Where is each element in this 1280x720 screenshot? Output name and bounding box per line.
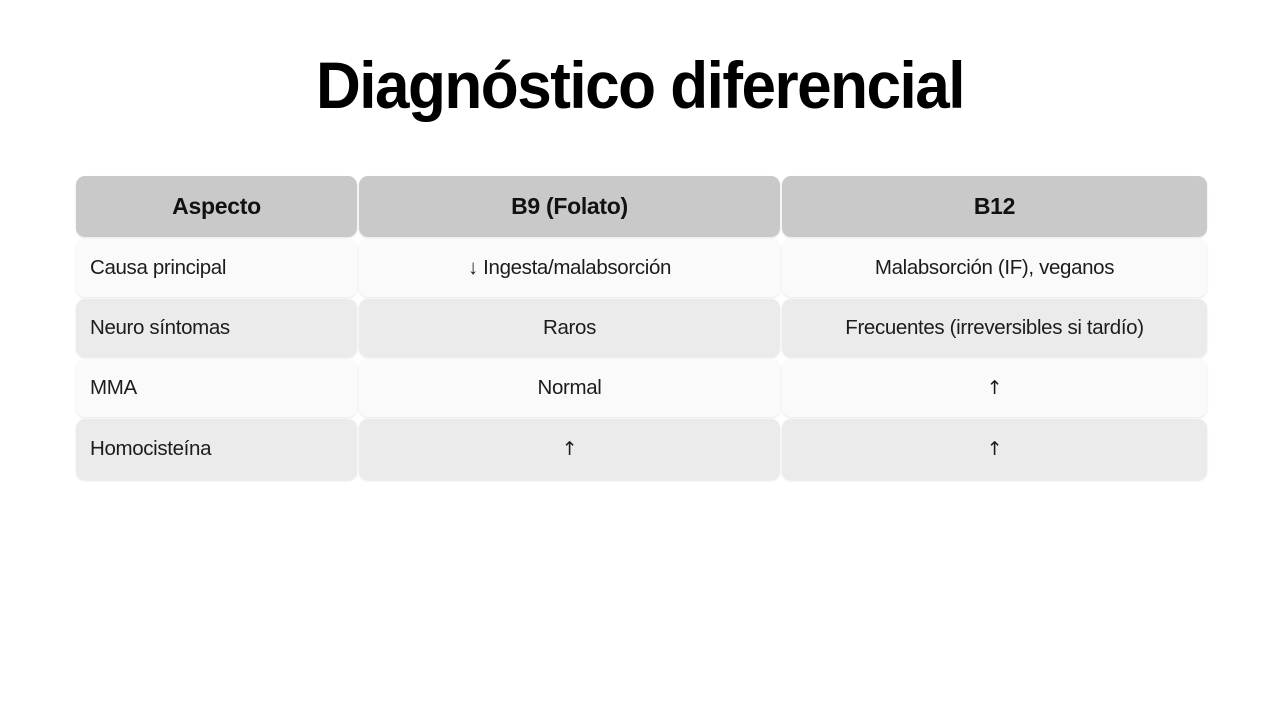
table-cell-b12-up-arrow-icon: ↑ — [782, 359, 1207, 417]
table-cell-b9: Normal — [359, 359, 780, 417]
table-cell-aspecto: Neuro síntomas — [76, 299, 357, 357]
table-cell-aspecto: MMA — [76, 359, 357, 417]
table-row: Neuro síntomas Raros Frecuentes (irrever… — [76, 299, 1205, 357]
page-title: Diagnóstico diferencial — [38, 52, 1241, 118]
table-row: MMA Normal ↑ — [76, 359, 1205, 417]
table-row: Causa principal ↓ Ingesta/malabsorción M… — [76, 239, 1205, 297]
table-header-cell-b9: B9 (Folato) — [359, 176, 780, 237]
table-header-cell-aspecto: Aspecto — [76, 176, 357, 237]
table-cell-b12: Frecuentes (irreversibles si tardío) — [782, 299, 1207, 357]
table-cell-b9: Raros — [359, 299, 780, 357]
slide-root: Diagnóstico diferencial Aspecto B9 (Fola… — [0, 0, 1280, 720]
comparison-table: Aspecto B9 (Folato) B12 Causa principal … — [76, 176, 1205, 480]
table-cell-b9: ↓ Ingesta/malabsorción — [359, 239, 780, 297]
table-cell-b12-up-arrow-icon: ↑ — [782, 419, 1207, 480]
table-header-cell-b12: B12 — [782, 176, 1207, 237]
table-cell-aspecto: Homocisteína — [76, 419, 357, 480]
table-row: Homocisteína ↑ ↑ — [76, 419, 1205, 480]
table-cell-b12: Malabsorción (IF), veganos — [782, 239, 1207, 297]
table-header-row: Aspecto B9 (Folato) B12 — [76, 176, 1205, 237]
table-cell-aspecto: Causa principal — [76, 239, 357, 297]
table-cell-b9-up-arrow-icon: ↑ — [359, 419, 780, 480]
